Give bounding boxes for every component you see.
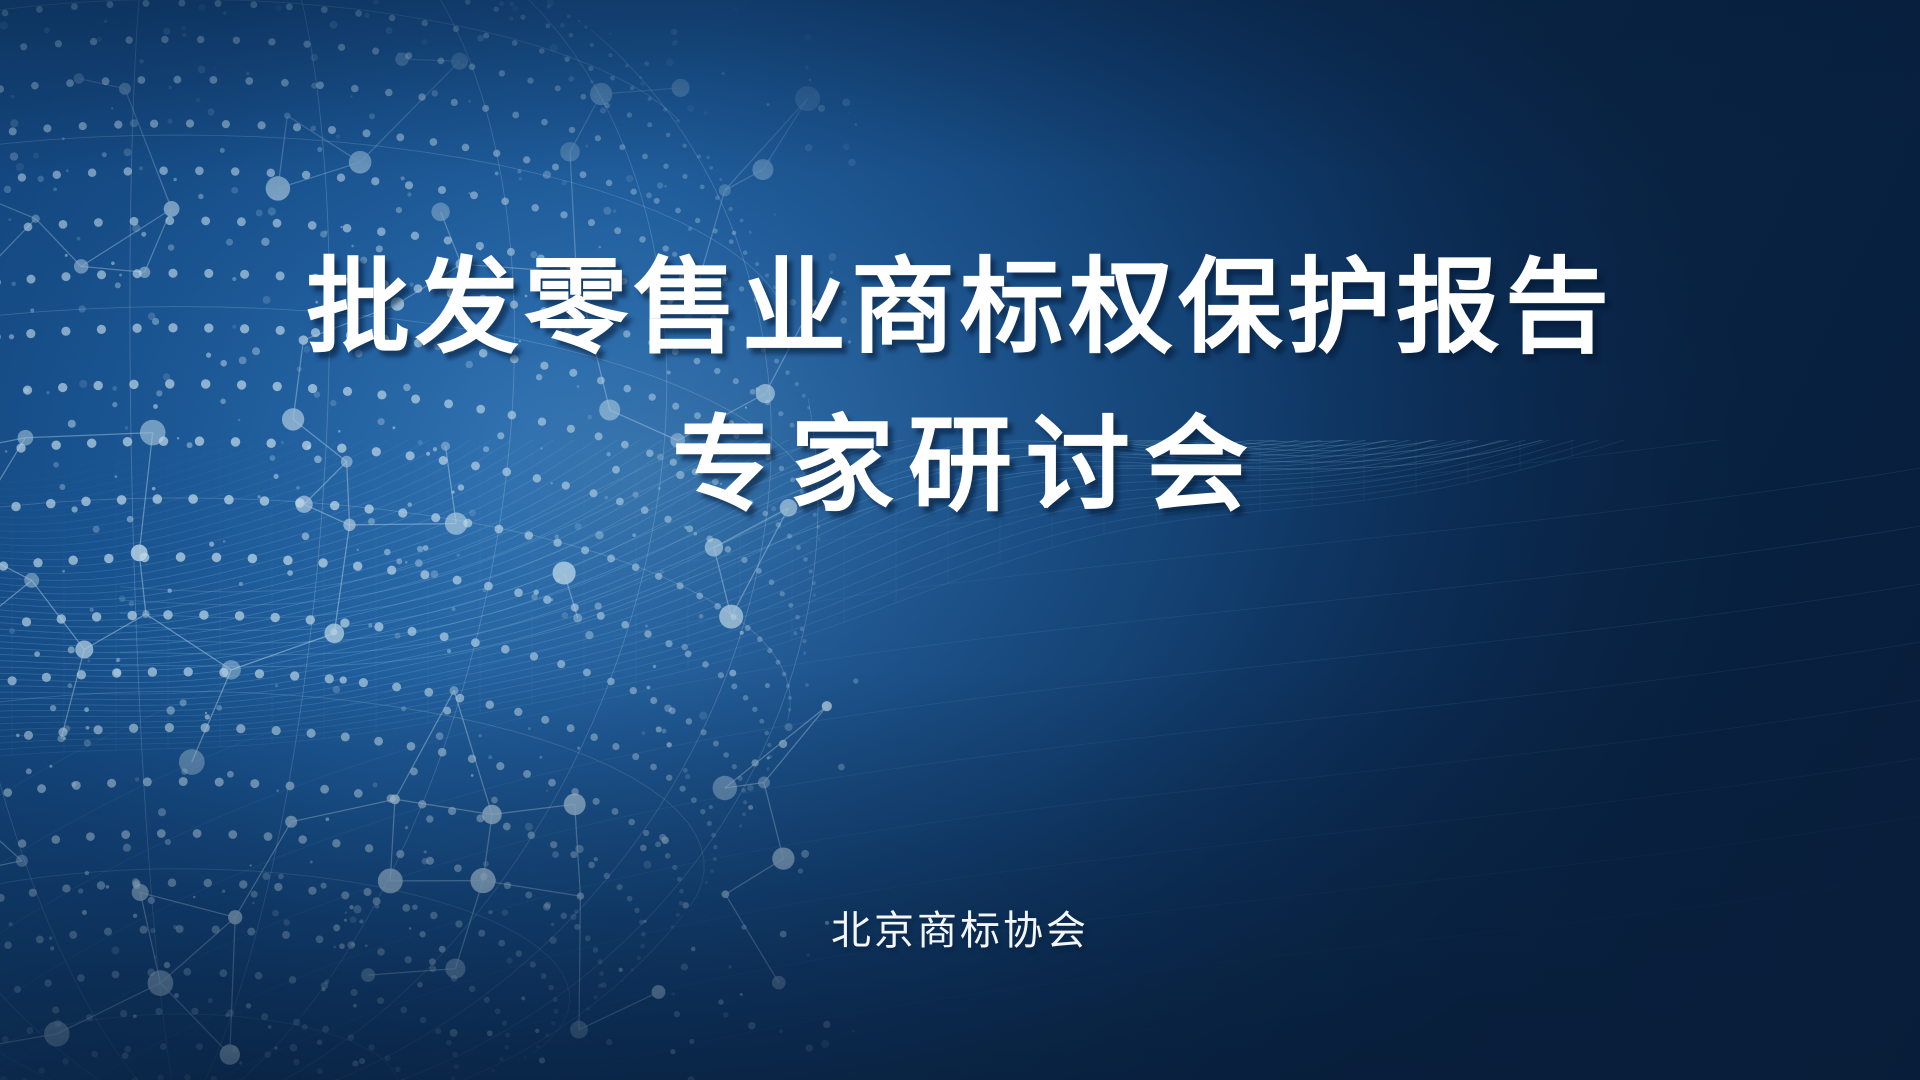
organization-name: 北京商标协会 bbox=[0, 898, 1920, 956]
slide-title-block: 批发零售业商标权保护报告 专家研讨会 bbox=[0, 228, 1920, 544]
slide-title-line-2: 专家研讨会 bbox=[0, 386, 1920, 544]
slide-footer-block: 北京商标协会 bbox=[0, 898, 1920, 956]
title-slide: 批发零售业商标权保护报告 专家研讨会 北京商标协会 bbox=[0, 0, 1920, 1080]
slide-title-line-1: 批发零售业商标权保护报告 bbox=[0, 228, 1920, 386]
